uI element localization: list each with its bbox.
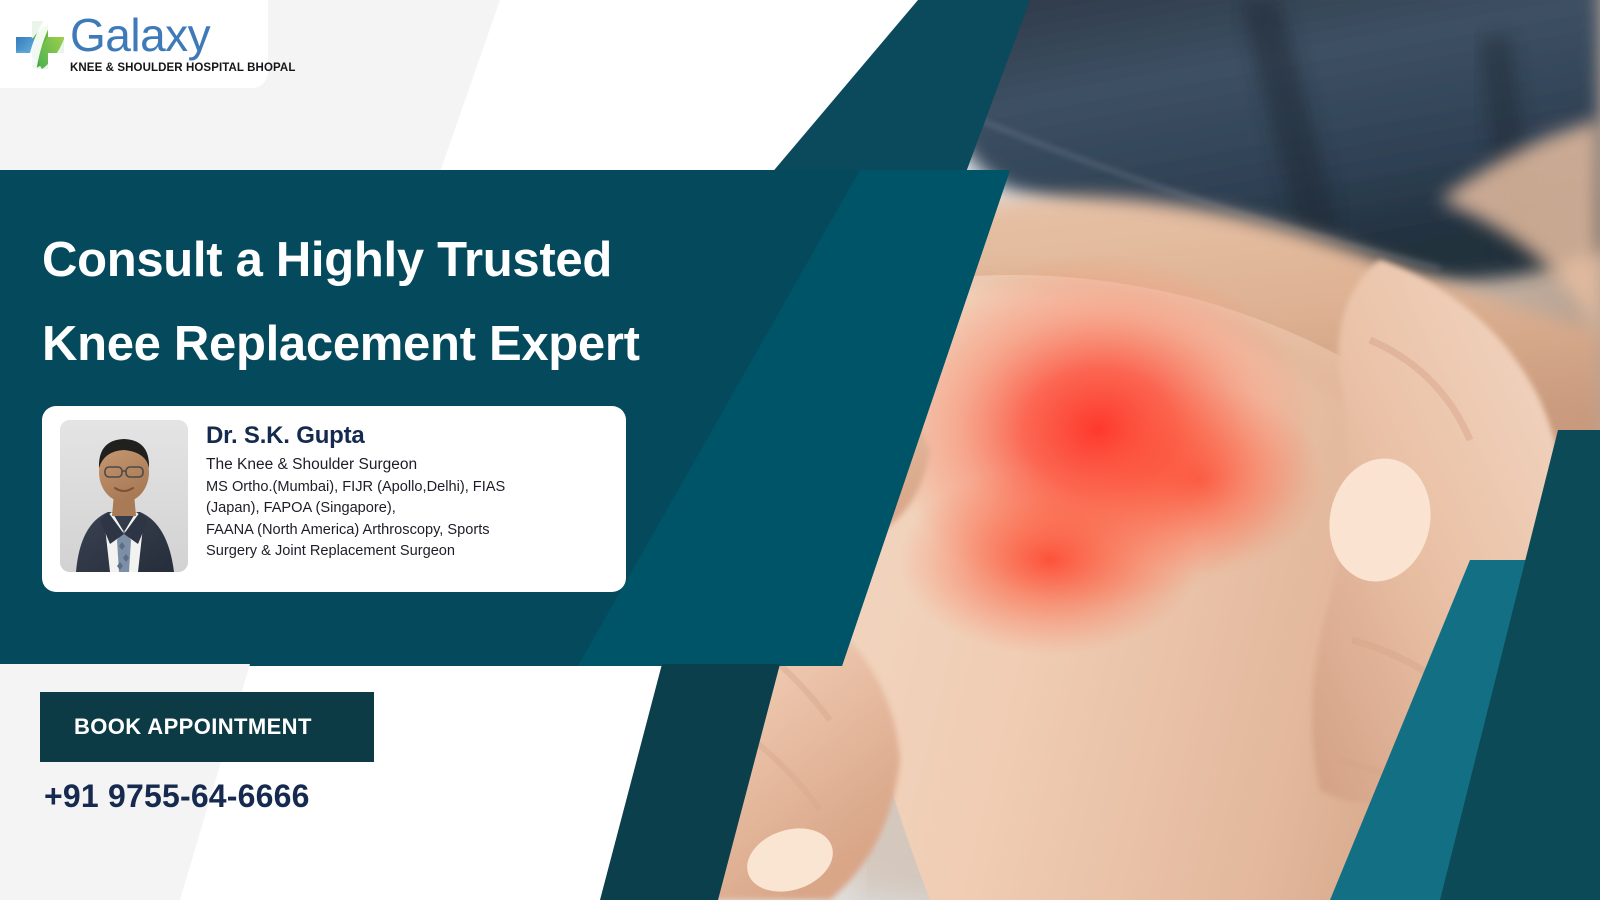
book-appointment-label: BOOK APPOINTMENT bbox=[74, 714, 312, 740]
brand-logo[interactable]: Galaxy KNEE & SHOULDER HOSPITAL BHOPAL bbox=[0, 0, 268, 88]
promo-banner: Galaxy KNEE & SHOULDER HOSPITAL BHOPAL C… bbox=[0, 0, 1600, 900]
doctor-role: The Knee & Shoulder Surgeon bbox=[206, 454, 505, 476]
medical-cross-leaf-icon bbox=[12, 17, 68, 73]
doctor-card: Dr. S.K. Gupta The Knee & Shoulder Surge… bbox=[42, 406, 626, 592]
headline-line-1: Consult a Highly Trusted bbox=[42, 218, 832, 302]
book-appointment-button[interactable]: BOOK APPOINTMENT bbox=[40, 692, 374, 762]
brand-tagline: KNEE & SHOULDER HOSPITAL BHOPAL bbox=[70, 62, 295, 74]
headline-line-2: Knee Replacement Expert bbox=[42, 302, 832, 386]
qualification-line-1: MS Ortho.(Mumbai), FIJR (Apollo,Delhi), … bbox=[206, 477, 505, 499]
doctor-avatar bbox=[60, 420, 188, 572]
page-title: Consult a Highly Trusted Knee Replacemen… bbox=[42, 218, 832, 387]
qualification-line-2: (Japan), FAPOA (Singapore), bbox=[206, 498, 505, 520]
doctor-details: Dr. S.K. Gupta The Knee & Shoulder Surge… bbox=[206, 420, 505, 578]
doctor-name: Dr. S.K. Gupta bbox=[206, 422, 505, 450]
doctor-qualifications: MS Ortho.(Mumbai), FIJR (Apollo,Delhi), … bbox=[206, 477, 505, 563]
qualification-line-4: Surgery & Joint Replacement Surgeon bbox=[206, 541, 505, 563]
qualification-line-3: FAANA (North America) Arthroscopy, Sport… bbox=[206, 520, 505, 542]
phone-number[interactable]: +91 9755-64-6666 bbox=[44, 778, 310, 815]
brand-name: Galaxy bbox=[70, 9, 210, 61]
